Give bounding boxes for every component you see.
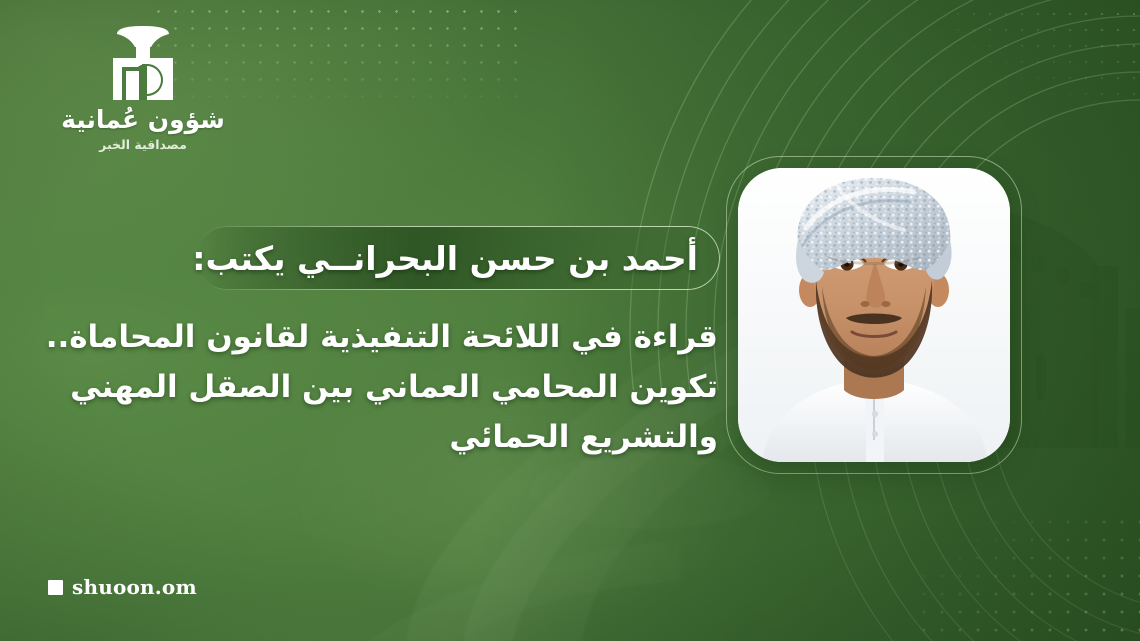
author-banner-label: أحمد بن حسن البحرانــي يكتب: bbox=[192, 226, 698, 290]
site-url-text: shuoon.om bbox=[72, 575, 197, 599]
logo-tagline: مصداقية الخبر bbox=[48, 137, 238, 152]
author-portrait-photo bbox=[738, 168, 1010, 462]
headline: قراءة في اللائحة التنفيذية لقانون المحام… bbox=[28, 312, 718, 463]
site-logo[interactable]: شؤون عُمانية مصداقية الخبر bbox=[48, 26, 238, 152]
poster-canvas: شؤون عُمانية مصداقية الخبر أحمد بن حسن ا… bbox=[0, 0, 1140, 641]
mabkhara-incense-burner-logo-icon bbox=[48, 26, 238, 100]
headline-line-1: قراءة في اللائحة التنفيذية لقانون المحام… bbox=[28, 312, 718, 362]
headline-line-3: والتشريع الحمائي bbox=[28, 412, 718, 462]
logo-wordmark: شؤون عُمانية bbox=[48, 106, 238, 134]
headline-line-2: تكوين المحامي العماني بين الصقل المهني bbox=[28, 362, 718, 412]
site-url-footer[interactable]: shuoon.om bbox=[48, 575, 197, 599]
square-bullet-icon bbox=[48, 580, 63, 595]
